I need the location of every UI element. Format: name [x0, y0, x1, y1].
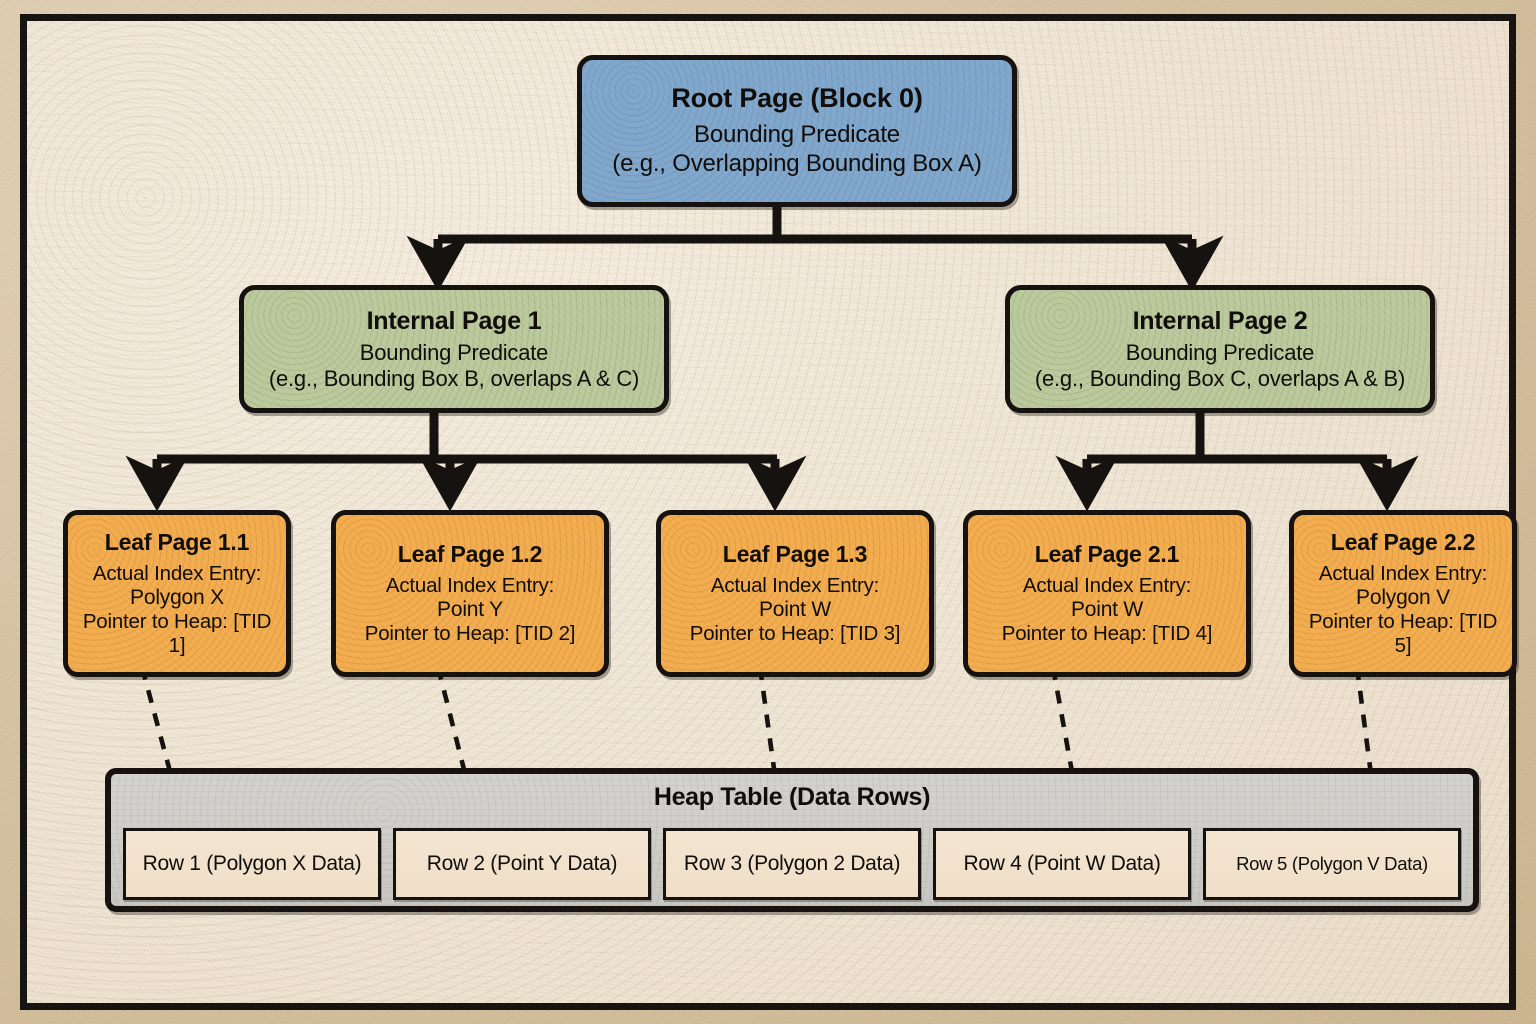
internal-2-predicate-label: Bounding Predicate [1126, 340, 1314, 366]
leaf-1-1-entry-value: Polygon X [130, 586, 224, 611]
leaf-2-1-title: Leaf Page 2.1 [1035, 541, 1179, 568]
node-leaf-page-1-2[interactable]: Leaf Page 1.2 Actual Index Entry: Point … [331, 510, 609, 677]
leaf-2-2-heap-pointer: Pointer to Heap: [TID 5] [1300, 610, 1506, 658]
leaf-2-2-entry-value: Polygon V [1356, 586, 1450, 611]
heap-table-container[interactable]: Heap Table (Data Rows) Row 1 (Polygon X … [105, 768, 1479, 912]
leaf-1-3-entry-value: Point W [759, 598, 831, 623]
heap-row-3[interactable]: Row 3 (Polygon 2 Data) [663, 828, 921, 900]
leaf-1-2-title: Leaf Page 1.2 [398, 541, 542, 568]
leaf-1-1-entry-label: Actual Index Entry: [93, 562, 261, 586]
leaf-2-2-title: Leaf Page 2.2 [1331, 529, 1475, 556]
leaf-2-1-heap-pointer: Pointer to Heap: [TID 4] [1002, 622, 1213, 646]
node-leaf-page-2-2[interactable]: Leaf Page 2.2 Actual Index Entry: Polygo… [1289, 510, 1517, 677]
leaf-1-3-heap-pointer: Pointer to Heap: [TID 3] [690, 622, 901, 646]
leaf-1-3-entry-label: Actual Index Entry: [711, 574, 879, 598]
internal-1-title: Internal Page 1 [367, 307, 542, 336]
diagram-page: Root Page (Block 0) Bounding Predicate (… [0, 0, 1536, 1024]
diagram-frame: Root Page (Block 0) Bounding Predicate (… [20, 14, 1516, 1010]
leaf-2-2-entry-label: Actual Index Entry: [1319, 562, 1487, 586]
root-predicate-value: (e.g., Overlapping Bounding Box A) [612, 150, 981, 179]
node-leaf-page-2-1[interactable]: Leaf Page 2.1 Actual Index Entry: Point … [963, 510, 1251, 677]
leaf-1-3-title: Leaf Page 1.3 [723, 541, 867, 568]
heap-row-4[interactable]: Row 4 (Point W Data) [933, 828, 1191, 900]
root-predicate-label: Bounding Predicate [694, 121, 900, 150]
leaf-1-2-entry-label: Actual Index Entry: [386, 574, 554, 598]
leaf-1-2-entry-value: Point Y [437, 598, 503, 623]
heap-table-rows: Row 1 (Polygon X Data) Row 2 (Point Y Da… [123, 828, 1461, 900]
internal-1-predicate-value: (e.g., Bounding Box B, overlaps A & C) [269, 366, 639, 392]
leaf-2-1-entry-label: Actual Index Entry: [1023, 574, 1191, 598]
internal-1-predicate-label: Bounding Predicate [360, 340, 548, 366]
node-leaf-page-1-1[interactable]: Leaf Page 1.1 Actual Index Entry: Polygo… [63, 510, 291, 677]
leaf-1-1-title: Leaf Page 1.1 [105, 529, 249, 556]
leaf-2-1-entry-value: Point W [1071, 598, 1143, 623]
root-title: Root Page (Block 0) [671, 83, 922, 114]
internal-2-title: Internal Page 2 [1133, 307, 1308, 336]
heap-row-2[interactable]: Row 2 (Point Y Data) [393, 828, 651, 900]
node-root-page[interactable]: Root Page (Block 0) Bounding Predicate (… [577, 55, 1017, 207]
node-internal-page-1[interactable]: Internal Page 1 Bounding Predicate (e.g.… [239, 285, 669, 413]
leaf-1-2-heap-pointer: Pointer to Heap: [TID 2] [365, 622, 576, 646]
internal-2-predicate-value: (e.g., Bounding Box C, overlaps A & B) [1035, 366, 1405, 392]
heap-row-5[interactable]: Row 5 (Polygon V Data) [1203, 828, 1461, 900]
heap-table-title: Heap Table (Data Rows) [111, 783, 1473, 812]
heap-row-1[interactable]: Row 1 (Polygon X Data) [123, 828, 381, 900]
node-leaf-page-1-3[interactable]: Leaf Page 1.3 Actual Index Entry: Point … [656, 510, 934, 677]
node-internal-page-2[interactable]: Internal Page 2 Bounding Predicate (e.g.… [1005, 285, 1435, 413]
leaf-1-1-heap-pointer: Pointer to Heap: [TID 1] [74, 610, 280, 658]
